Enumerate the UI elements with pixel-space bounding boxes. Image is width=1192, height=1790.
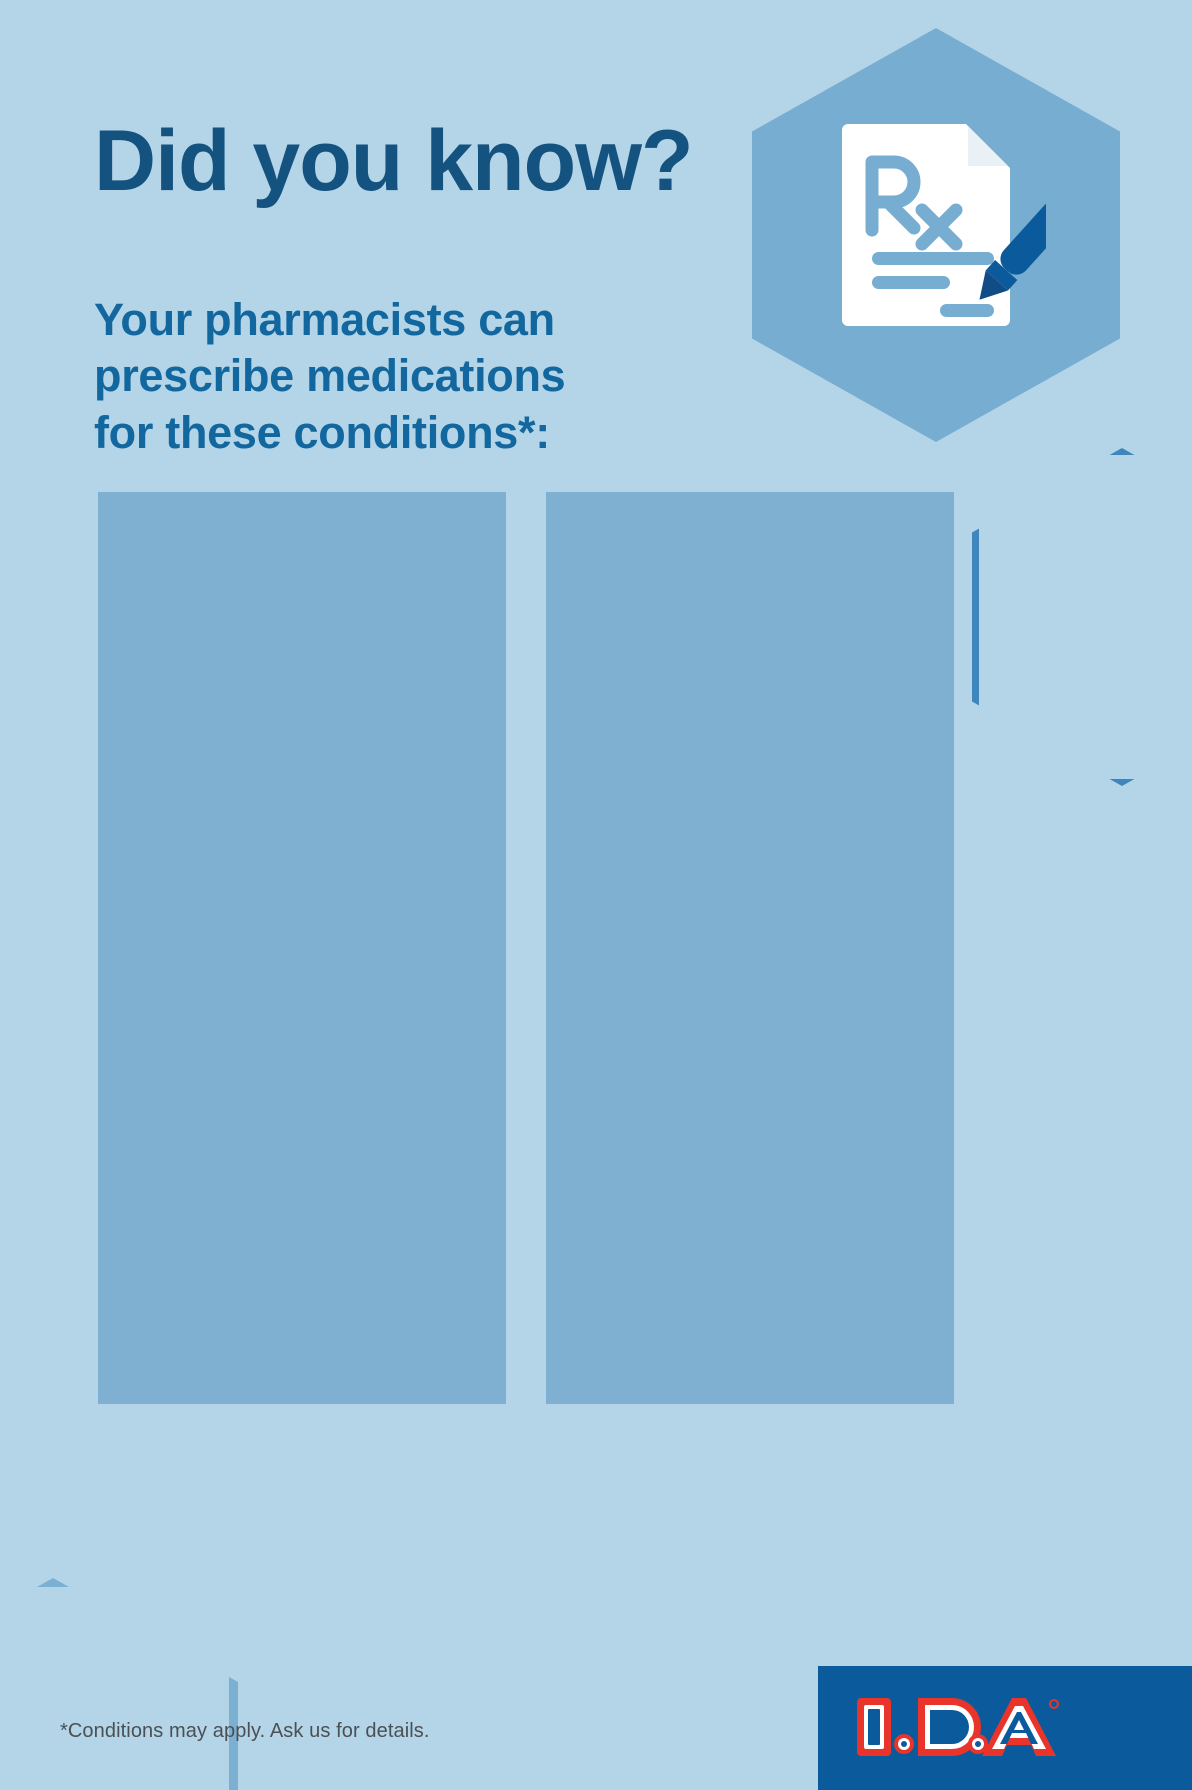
poster-canvas: Did you know? Your pharmacists can presc… <box>0 0 1192 1790</box>
hexagon-outline-shape-bottom-left <box>0 1578 238 1790</box>
subtitle-line-2: prescribe medications <box>94 348 565 404</box>
prescription-rx-document-pencil-icon <box>836 118 1046 333</box>
page-title: Did you know? <box>94 118 693 204</box>
subtitle-line-3: for these conditions*: <box>94 405 565 461</box>
footnote-disclaimer: *Conditions may apply. Ask us for detail… <box>60 1720 430 1743</box>
conditions-column-left <box>98 492 506 1404</box>
page-subtitle: Your pharmacists can prescribe medicatio… <box>94 292 565 461</box>
hexagon-outline-shape-right <box>972 448 1192 786</box>
conditions-column-right <box>546 492 954 1404</box>
ida-logo <box>818 1666 1192 1790</box>
subtitle-line-1: Your pharmacists can <box>94 292 565 348</box>
